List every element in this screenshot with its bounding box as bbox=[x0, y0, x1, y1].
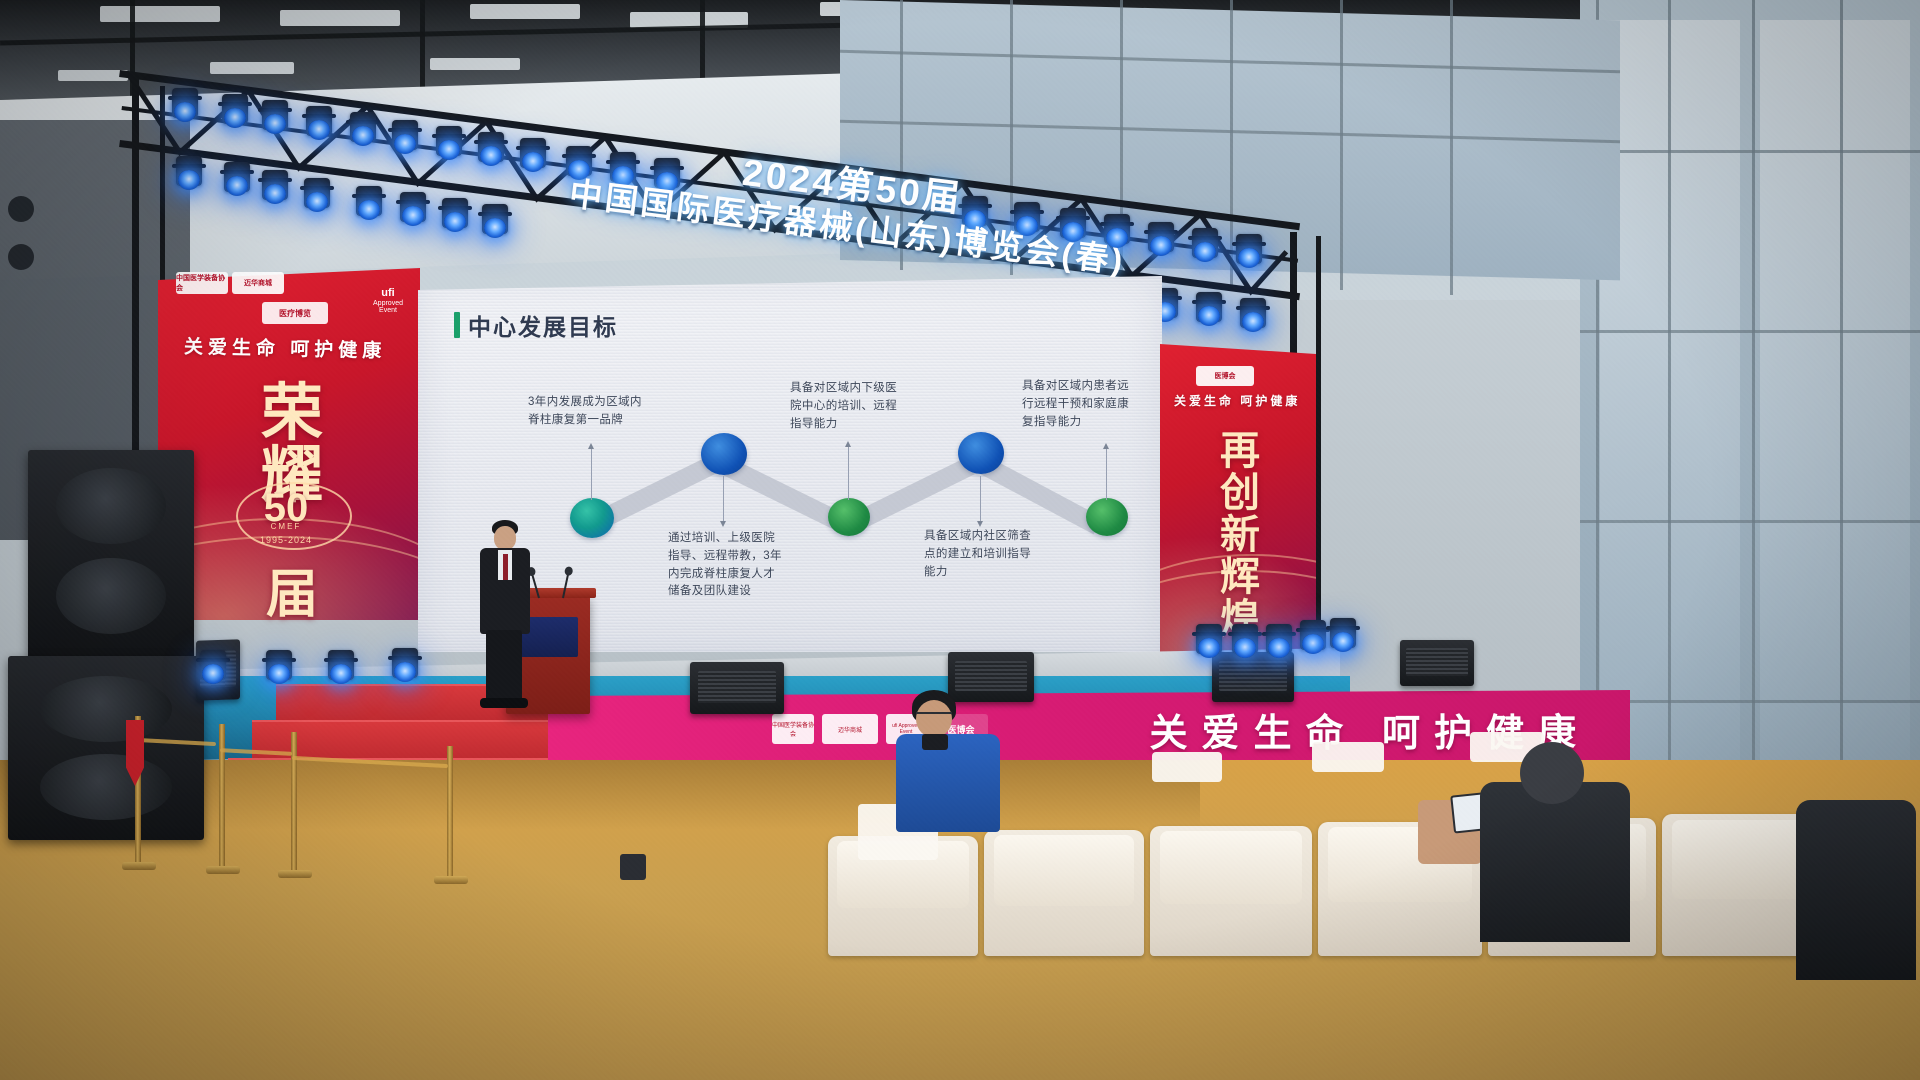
leader-line-2 bbox=[723, 476, 724, 522]
floor-light bbox=[1330, 618, 1356, 648]
node-2 bbox=[701, 433, 747, 475]
monitor-grill bbox=[1219, 661, 1288, 691]
moving-head-light bbox=[436, 126, 462, 156]
stanchion-base bbox=[278, 870, 312, 878]
moving-head-light bbox=[350, 112, 376, 142]
stanchion-base bbox=[122, 862, 156, 870]
leader-line-5 bbox=[1106, 448, 1107, 500]
mall-logo-chip: 迈华商城 bbox=[232, 272, 284, 294]
leader-line-3 bbox=[848, 446, 849, 500]
ceiling-light-panel bbox=[470, 4, 580, 19]
hall-wall-vent bbox=[8, 196, 34, 222]
floor-light bbox=[1300, 620, 1326, 650]
caption-5: 具备对区域内患者远 行远程干预和家庭康 复指导能力 bbox=[1022, 378, 1162, 431]
caption-2-line-3: 内完成脊柱康复人才 bbox=[668, 566, 828, 584]
caption-5-line-1: 具备对区域内患者远 bbox=[1022, 378, 1162, 396]
presenter-shoes bbox=[480, 698, 528, 708]
monitor-grill bbox=[1406, 648, 1468, 676]
right-panel-slogan: 关爱生命 呵护健康 bbox=[1174, 392, 1300, 409]
caption-2-line-4: 储备及团队建设 bbox=[668, 583, 828, 601]
stage-monitor-far-right bbox=[1400, 640, 1474, 686]
speaker-cone bbox=[56, 468, 166, 544]
window-transom bbox=[1580, 520, 1920, 523]
skirt-logo-2-label: 迈华商城 bbox=[838, 725, 862, 734]
caption-2-line-1: 通过培训、上级医院 bbox=[668, 530, 828, 548]
skirt-logo-2: 迈华商城 bbox=[822, 714, 878, 744]
presenter-head bbox=[494, 526, 516, 550]
window-mullion bbox=[1752, 0, 1755, 860]
right-panel-logo-label: 医博会 bbox=[1215, 371, 1236, 381]
caption-3-line-2: 院中心的培训、远程 bbox=[790, 398, 940, 416]
leader-line-1 bbox=[591, 448, 592, 500]
stage-monitor-center-left bbox=[690, 662, 784, 714]
caption-5-line-3: 复指导能力 bbox=[1022, 414, 1162, 432]
moving-head-light bbox=[262, 170, 288, 200]
left-panel-slogan: 关爱生命 呵护健康 bbox=[184, 332, 387, 363]
moving-head-light bbox=[1196, 292, 1222, 322]
expo-logo-chip: 医疗博览 bbox=[262, 302, 328, 324]
attendee-jacket bbox=[896, 734, 1000, 832]
floor-light bbox=[1196, 624, 1222, 654]
moving-head-light bbox=[176, 156, 202, 186]
skirt-logo-1: 中国医学装备协会 bbox=[772, 714, 814, 744]
anniversary-years: 1995-2024 bbox=[238, 535, 334, 545]
floor-light bbox=[328, 650, 354, 680]
stanchion-post bbox=[219, 724, 225, 868]
window-transom bbox=[1580, 700, 1920, 703]
floor-post bbox=[620, 854, 646, 880]
ufi-label-1: ufi bbox=[368, 288, 408, 300]
moving-head-light bbox=[222, 94, 248, 124]
right-seated-person bbox=[1796, 800, 1916, 980]
caption-1: 3年内发展成为区域内 脊柱康复第一品牌 bbox=[528, 394, 688, 430]
conference-stage-photo: 2024第50届 中国国际医疗器械(山东)博览会(春) 中国医学装备协会 迈华商… bbox=[0, 0, 1920, 1080]
caption-4-line-3: 能力 bbox=[924, 564, 1076, 582]
floor-light bbox=[266, 650, 292, 680]
truss-leg bbox=[1316, 236, 1321, 651]
speaker-cone bbox=[56, 558, 166, 634]
stanchion-base bbox=[206, 866, 240, 874]
monitor-grill bbox=[955, 661, 1027, 691]
expo-logo-label: 医疗博览 bbox=[279, 308, 311, 319]
ceiling-light-panel bbox=[100, 6, 220, 22]
moving-head-light bbox=[224, 162, 250, 192]
floor-light bbox=[200, 650, 226, 680]
ceiling-light-panel bbox=[280, 10, 400, 26]
moving-head-light bbox=[356, 186, 382, 216]
photographer-head bbox=[1520, 742, 1584, 804]
presenter-tie bbox=[503, 554, 508, 580]
window-mullion bbox=[1668, 0, 1671, 860]
caption-1-line-1: 3年内发展成为区域内 bbox=[528, 394, 688, 412]
hall-wall-vent bbox=[8, 244, 34, 270]
slide-title-accent-bar bbox=[454, 312, 460, 338]
stage-monitor-right bbox=[1212, 652, 1294, 702]
node-4 bbox=[958, 432, 1004, 474]
association-logo-label: 中国医学装备协会 bbox=[176, 273, 228, 293]
window-mullion bbox=[1840, 0, 1843, 860]
skirt-logo-1-label: 中国医学装备协会 bbox=[772, 720, 814, 738]
left-panel-big-char-3: 届 bbox=[252, 552, 332, 627]
seated-attendee bbox=[890, 690, 1010, 850]
moving-head-light bbox=[262, 100, 288, 130]
caption-4-line-2: 点的建立和培训指导 bbox=[924, 546, 1076, 564]
moving-head-light bbox=[482, 204, 508, 234]
floor-light bbox=[1232, 624, 1258, 654]
association-logo-chip: 中国医学装备协会 bbox=[176, 272, 228, 294]
node-5 bbox=[1086, 498, 1128, 536]
right-panel-logo-chip: 医博会 bbox=[1196, 366, 1254, 386]
photographer-person bbox=[1480, 782, 1630, 942]
speaker-stack-top bbox=[28, 450, 194, 660]
chair-doily bbox=[1152, 752, 1222, 782]
anniversary-mark: CMEF bbox=[238, 522, 334, 531]
floor-light bbox=[392, 648, 418, 678]
caption-4-line-1: 具备区域内社区筛查 bbox=[924, 528, 1076, 546]
mall-logo-label: 迈华商城 bbox=[244, 278, 272, 288]
window-transom bbox=[1580, 150, 1920, 153]
chair-back bbox=[1160, 831, 1303, 904]
node-1 bbox=[570, 498, 614, 538]
caption-2-line-2: 指导、远程带教，3年 bbox=[668, 548, 828, 566]
stanchion-4 bbox=[430, 746, 470, 896]
caption-5-line-2: 行远程干预和家庭康 bbox=[1022, 396, 1162, 414]
monitor-grill bbox=[698, 671, 777, 702]
caption-2: 通过培训、上级医院 指导、远程带教，3年 内完成脊柱康复人才 储备及团队建设 bbox=[668, 530, 828, 601]
slide-title-text: 中心发展目标 bbox=[468, 308, 618, 342]
slide-title: 中心发展目标 bbox=[454, 308, 618, 342]
window-transom bbox=[1580, 330, 1920, 333]
moving-head-light bbox=[400, 192, 426, 222]
leader-line-4 bbox=[980, 476, 981, 522]
chair-doily bbox=[1312, 742, 1384, 772]
floor-light bbox=[1266, 624, 1292, 654]
presenter bbox=[470, 520, 534, 712]
moving-head-light bbox=[304, 178, 330, 208]
caption-1-line-2: 脊柱康复第一品牌 bbox=[528, 412, 688, 430]
ufi-label-3: Event bbox=[368, 307, 408, 314]
chair-back bbox=[994, 835, 1135, 906]
moving-head-light bbox=[392, 120, 418, 150]
ufi-label-2: Approved bbox=[368, 300, 408, 307]
caption-4: 具备区域内社区筛查 点的建立和培训指导 能力 bbox=[924, 528, 1076, 581]
ufi-approved-mark: ufi Approved Event bbox=[368, 288, 408, 314]
caption-3-line-1: 具备对区域内下级医 bbox=[790, 380, 940, 398]
chair[interactable] bbox=[1150, 826, 1312, 956]
attendee-collar bbox=[922, 734, 948, 750]
moving-head-light bbox=[478, 132, 504, 162]
stanchion-base bbox=[434, 876, 468, 884]
moving-head-light bbox=[306, 106, 332, 136]
speaker-stack-bottom bbox=[8, 656, 204, 840]
moving-head-light bbox=[442, 198, 468, 228]
attendee-glasses bbox=[916, 712, 952, 720]
moving-head-light bbox=[1240, 298, 1266, 328]
node-3 bbox=[828, 498, 870, 536]
presenter-legs bbox=[486, 630, 522, 702]
caption-3-line-3: 指导能力 bbox=[790, 416, 940, 434]
moving-head-light bbox=[1236, 234, 1262, 264]
caption-3: 具备对区域内下级医 院中心的培训、远程 指导能力 bbox=[790, 380, 940, 433]
moving-head-light bbox=[172, 88, 198, 118]
